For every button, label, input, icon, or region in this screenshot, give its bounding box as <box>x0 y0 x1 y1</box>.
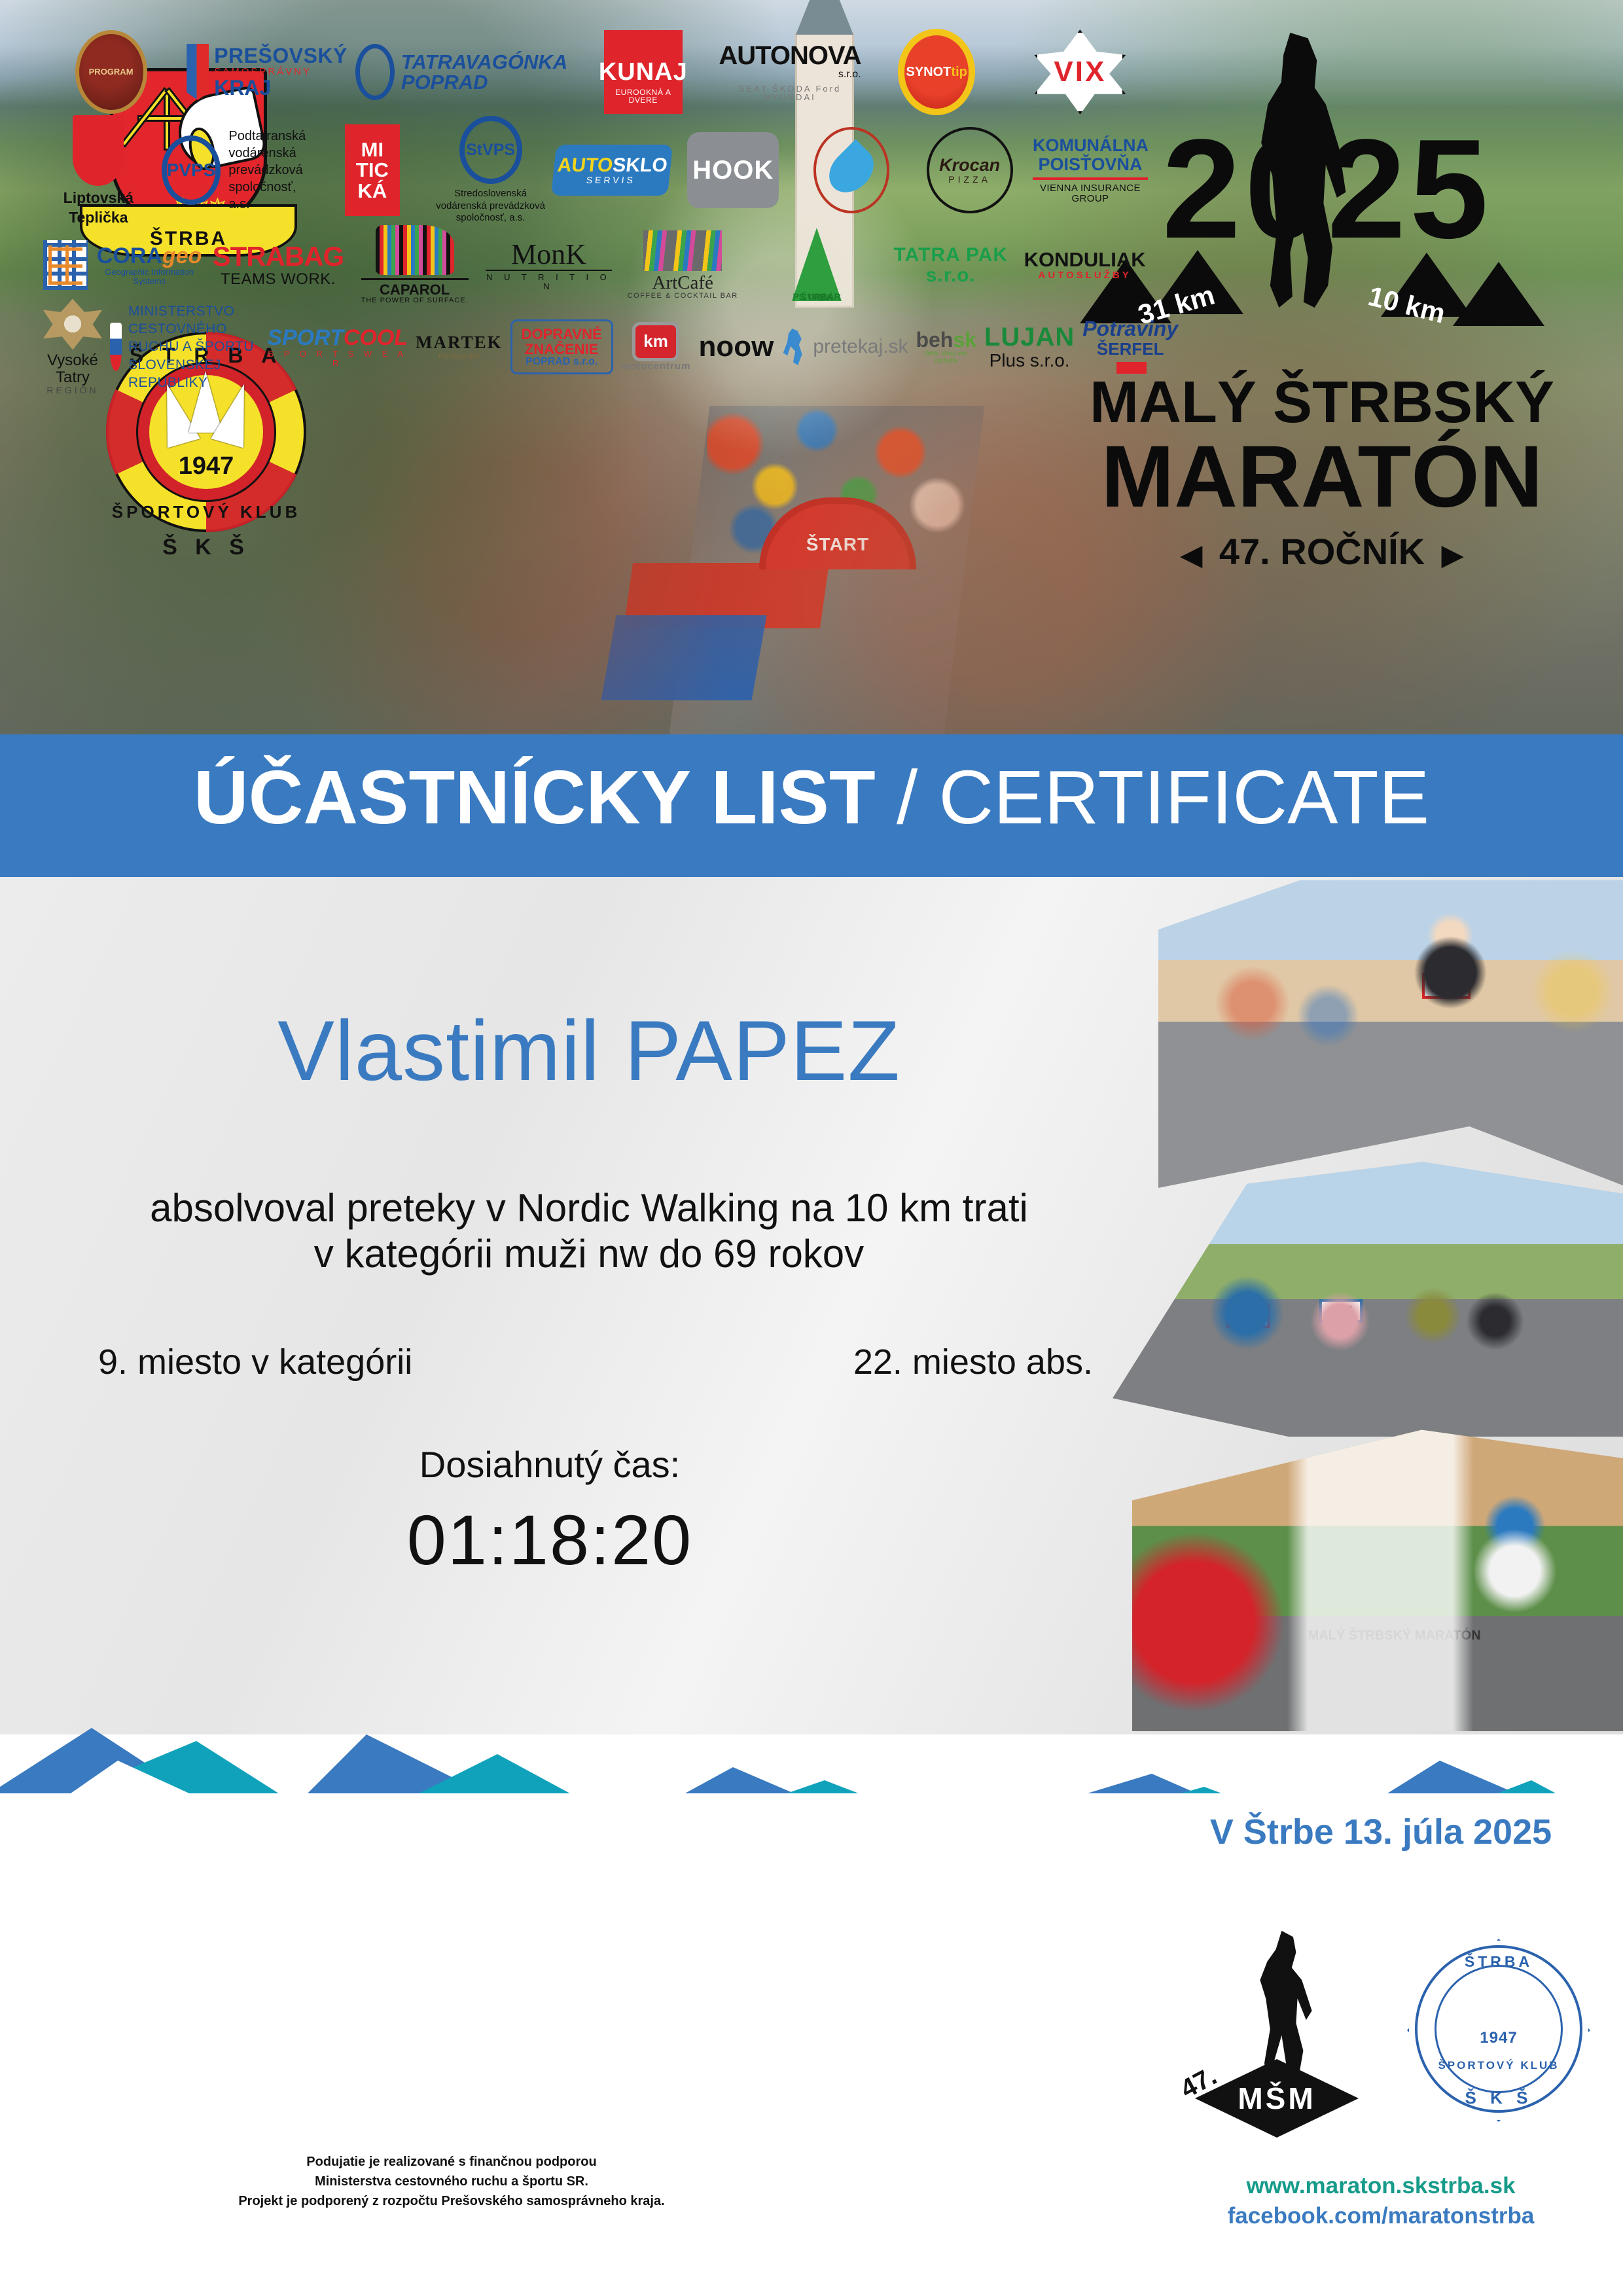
bib-number: 122 <box>1226 1304 1270 1328</box>
absolute-placement: 22. miesto abs. <box>853 1342 1093 1382</box>
start-arch: ŠTART <box>759 497 916 569</box>
edelweiss-icon <box>43 298 102 350</box>
sponsor-label: pretekaj.sk <box>813 336 908 357</box>
sponsor-hook[interactable]: HOOK <box>674 124 793 216</box>
sponsor-label: SYNOT <box>906 65 952 79</box>
sponsor-label: TATRA PAK s.r.o. <box>894 244 1008 287</box>
sponsor-monk-nutrition[interactable]: MonK N U T R I T I O N <box>482 223 616 308</box>
race-road <box>665 406 985 759</box>
msm-abbr: MŠM <box>1238 2081 1315 2116</box>
sponsor-sublabel: COOL <box>344 325 408 350</box>
sponsor-presovsky-kraj[interactable]: PREŠOVSKÝ SAMOSPRÁVNY KRAJ <box>183 26 351 118</box>
sponsor-sublabel2: KRAJ <box>214 77 348 99</box>
sponsor-label: MonK <box>486 240 612 270</box>
funding-fineprint: Podujatie je realizované s finančnou pod… <box>79 2152 825 2211</box>
sponsor-brands: SEAT ŠKODA Ford HYUNDAI <box>719 84 861 102</box>
sponsor-vysoke-tatry-region[interactable]: Vysoké Tatry REGIÓN <box>39 308 106 386</box>
divider-line <box>1033 177 1148 180</box>
elephant-icon <box>376 225 454 275</box>
sponsor-sublabel: SKLO <box>612 154 669 176</box>
sponsor-ps-urbar-strba[interactable]: PS URBÁR ŠTRBA <box>750 223 884 308</box>
sponsor-row-2: Liptovská Teplička PVPS Podtatranská vod… <box>39 124 1152 216</box>
placement-row: 9. miesto v kategórii 22. miesto abs. <box>98 1342 1093 1382</box>
sponsor-label: DOPRAVNÉ <box>522 327 602 342</box>
website-url[interactable]: www.maraton.skstrba.sk <box>1158 2173 1603 2199</box>
fineprint-line-2: Ministerstva cestovného ruchu a športu S… <box>79 2172 825 2191</box>
sponsor-label: AUTO <box>556 154 614 176</box>
stamp-year: 1947 <box>1400 2029 1597 2047</box>
sponsor-vix[interactable]: VIX <box>1008 26 1152 118</box>
sks-stamp-logo: ŠTRBA 1947 ŠPORTOVÝ KLUB Š K Š <box>1400 1931 1597 2140</box>
sponsor-label: MARTEK <box>416 333 503 351</box>
sponsor-label: Liptovská <box>63 190 134 206</box>
sponsor-label: MINISTERSTVO <box>128 302 259 320</box>
sponsor-autonova[interactable]: AUTONOVA s.r.o. SEAT ŠKODA Ford HYUNDAI <box>715 26 865 118</box>
sponsor-kunaj[interactable]: KUNAJ EUROOKNÁ A DVERE <box>571 26 715 118</box>
slovak-shield-icon <box>110 323 122 371</box>
photo-collage: 181 122 135 MALÝ ŠTRBSKÝ MARATÓN <box>1113 880 1623 1731</box>
page-title-separator: / <box>876 755 939 840</box>
sponsor-label: KONDULIAK <box>1024 249 1146 271</box>
sponsor-tatravagonka-poprad[interactable]: TATRAVAGÓNKA POPRAD <box>351 26 571 118</box>
stamp-bottom-text: Š K Š <box>1400 2088 1597 2108</box>
sponsor-label: noow <box>699 331 774 363</box>
sponsor-sublabel: tip <box>951 65 967 79</box>
race-title-line2: MARATÓN <box>1060 433 1584 521</box>
red-tent <box>624 563 829 628</box>
sponsor-krocan-pizza[interactable]: Krocan PIZZA <box>910 124 1029 216</box>
sponsor-sublabel: Stredoslovenská vodárenská prevádzková s… <box>435 188 546 224</box>
sponsor-sublabel: Podtatranská vodárenská prevádzková spol… <box>228 128 309 213</box>
sponsor-dopravne-znacenie-poprad[interactable]: DOPRAVNÉ ZNAČENIE POPRAD s.r.o. <box>507 308 617 386</box>
sponsor-sublabel: TEAMS WORK. <box>213 271 344 287</box>
sponsor-label: KOMUNÁLNA POISŤOVŇA <box>1033 136 1148 173</box>
participant-name: Vlastimil PAPEZ <box>79 1008 1099 1093</box>
sponsor-stvps[interactable]: StVPS Stredoslovenská vodárenská prevádz… <box>431 124 550 216</box>
certificate-page: ŠTART ✵ ✵ ✵ ŠTRBA Š T R B A 1947 ŠPORTOV… <box>0 0 1623 2296</box>
sponsor-sublabel2: Web, ktorý vás rozhýbe <box>916 351 976 365</box>
sponsor-label: ArtCafé <box>628 273 738 293</box>
msm-badge-logo: 47. MŠM <box>1178 1931 1374 2140</box>
sponsor-label: TATRAVAGÓNKA <box>401 52 567 72</box>
sponsor-sublabel: Restaurant <box>416 351 503 361</box>
sponsor-label: Krocan <box>939 156 1000 174</box>
dots-icon <box>1116 362 1147 374</box>
club-abbr-text: Š K Š <box>98 535 314 560</box>
page-title: ÚČASTNÍCKY LIST / CERTIFICATE <box>0 759 1623 835</box>
sponsor-pretekaj-sk[interactable]: pretekaj.sk <box>777 308 912 386</box>
time-label: Dosiahnutý čas: <box>79 1443 1021 1486</box>
race-edition: 47. ROČNÍK <box>1060 530 1584 573</box>
sponsor-row-3: CORAgeo Geographic Information Systems S… <box>39 223 1152 308</box>
sponsor-miticka[interactable]: MI TIC KÁ <box>313 124 432 216</box>
crowd-of-runners <box>707 393 969 563</box>
sponsor-sublabel2: Geographic Information Systems <box>94 268 205 285</box>
sponsor-row-1: PROGRAM PREŠOVSKÝ SAMOSPRÁVNY KRAJ TATRA… <box>39 26 1152 118</box>
sponsor-caparol[interactable]: CAPAROL THE POWER OF SURFACE. <box>348 223 482 308</box>
footer-right-column: V Štrbe 13. júla 2025 47. MŠM ŠTRBA 1947… <box>1158 1806 1603 2291</box>
photo-runners-hill: 122 135 <box>1113 1162 1623 1437</box>
fineprint-line-1: Podujatie je realizované s finančnou pod… <box>79 2152 825 2172</box>
flag-icon <box>187 44 209 100</box>
sponsor-tatrapak[interactable]: TATRA PAK s.r.o. <box>883 223 1018 308</box>
msm-diamond: MŠM <box>1195 2059 1359 2138</box>
sponsor-label: StVPS <box>459 116 522 184</box>
sponsor-row-4: Vysoké Tatry REGIÓN MINISTERSTVO CESTOVN… <box>39 308 1152 386</box>
sponsor-synot-tip[interactable]: SYNOTtip <box>865 26 1008 118</box>
sponsor-km-motocentrum[interactable]: km motocentrum <box>617 308 695 386</box>
sponsor-label: CAPAROL <box>361 278 469 297</box>
sponsor-program-trencin[interactable]: PROGRAM <box>39 26 183 118</box>
coffee-bars-icon <box>643 230 722 271</box>
blue-tent <box>601 615 767 700</box>
sponsor-sublabel: ŠERFEL <box>1097 339 1164 359</box>
finish-time: 01:18:20 <box>79 1499 1021 1581</box>
sponsor-potraviny-serfel[interactable]: Potraviny ŠERFEL <box>1079 308 1182 386</box>
sponsor-sublabel: EUROOKNÁ A DVERE <box>604 88 683 105</box>
sponsor-sublabel: N U T R I T I O N <box>486 270 612 291</box>
sponsor-sublabel: AUTOSLUŽBY <box>1024 270 1146 281</box>
grid-icon <box>43 240 88 290</box>
sponsor-martek-restaurant[interactable]: MARTEK Restaurant <box>412 308 507 386</box>
category-placement: 9. miesto v kategórii <box>98 1342 412 1382</box>
sponsor-konduliak[interactable]: KONDULIAK AUTOSLUŽBY <box>1018 223 1152 308</box>
sponsor-pd-strba[interactable] <box>793 124 911 216</box>
sponsor-sublabel: s.r.o. <box>719 69 861 81</box>
sponsor-sublabel: PIZZA <box>948 175 991 185</box>
sponsor-label: VIX <box>1054 57 1106 87</box>
sponsor-label: Potraviny <box>1082 318 1178 340</box>
sponsor-sublabel: THE POWER OF SURFACE. <box>361 297 469 305</box>
sponsor-artcafe[interactable]: ArtCafé COFFEE & COCKTAIL BAR <box>616 223 750 308</box>
page-title-regular: CERTIFICATE <box>938 755 1429 840</box>
facebook-url[interactable]: facebook.com/maratonstrba <box>1158 2203 1603 2229</box>
tree-icon <box>792 228 842 301</box>
bib-number: 135 <box>1319 1299 1363 1323</box>
sponsor-sublabel2: POPRAD s.r.o. <box>522 357 602 368</box>
sponsor-sublabel: Plus s.r.o. <box>984 351 1075 370</box>
sponsor-sublabel2: S P O R T S W E A R <box>267 350 408 367</box>
sponsor-label: HOOK <box>692 156 774 184</box>
sponsor-sublabel: VIENNA INSURANCE GROUP <box>1033 183 1148 204</box>
sponsor-liptovska-teplicka[interactable]: Liptovská Teplička <box>39 124 158 216</box>
runner-silhouette-icon <box>1250 1931 1322 2085</box>
finish-banner-text: MALÝ ŠTRBSKÝ MARATÓN <box>1308 1628 1481 1643</box>
club-founding-year: 1947 <box>98 452 314 480</box>
sponsor-corageo[interactable]: CORAgeo Geographic Information Systems <box>39 223 209 308</box>
sponsor-label: CORA <box>97 243 162 268</box>
sponsor-autosklo-servis[interactable]: AUTOSKLO SERVIS <box>550 124 674 216</box>
sponsor-label: PROGRAM <box>89 67 134 77</box>
sponsor-sublabel: ZNAČENIE <box>522 342 602 357</box>
certificate-text-line1: absolvoval preteky v Nordic Walking na 1… <box>79 1181 1099 1234</box>
sponsor-sublabel: POPRAD <box>401 72 567 92</box>
runners-icon <box>781 329 808 365</box>
sponsor-ministerstvo-sr[interactable]: MINISTERSTVO CESTOVNÉHO RUCHU A ŠPORTU S… <box>106 308 263 386</box>
sponsor-sublabel: CESTOVNÉHO RUCHU A ŠPORTU SLOVENSKEJ REP… <box>128 320 259 391</box>
sponsor-sublabel: sk <box>953 328 976 351</box>
bib-number: 181 <box>1422 973 1471 999</box>
certificate-text-line2: v kategórii muži nw do 69 rokov <box>79 1227 1099 1280</box>
sponsor-label: LUJAN <box>984 323 1075 351</box>
oval-icon <box>355 44 395 100</box>
sponsor-grid: PROGRAM PREŠOVSKÝ SAMOSPRÁVNY KRAJ TATRA… <box>39 13 1152 380</box>
sponsor-sublabel: geo <box>162 243 202 268</box>
page-title-bold: ÚČASTNÍCKY LIST <box>194 755 876 840</box>
sponsor-label: PREŠOVSKÝ <box>214 45 348 67</box>
sponsor-sublabel: COFFEE & COCKTAIL BAR <box>628 293 738 300</box>
sponsor-label: STRABAG <box>213 242 344 271</box>
stamp-top-text: ŠTRBA <box>1400 1953 1597 1971</box>
sponsor-strabag[interactable]: STRABAG TEAMS WORK. <box>209 223 348 308</box>
sponsor-pvps[interactable]: PVPS Podtatranská vodárenská prevádzková… <box>158 124 313 216</box>
start-arch-label: ŠTART <box>806 534 869 555</box>
sponsor-sublabel2: SERVIS <box>586 175 636 185</box>
sponsor-label: km <box>632 322 679 361</box>
sponsor-label: MI TIC KÁ <box>345 139 400 202</box>
water-drop-icon <box>821 139 883 202</box>
sponsor-label: Vysoké Tatry <box>43 352 102 385</box>
stamp-mid-text: ŠPORTOVÝ KLUB <box>1400 2059 1597 2072</box>
event-date: V Štrbe 13. júla 2025 <box>1158 1812 1603 1852</box>
sponsor-komunalna-poistovna[interactable]: KOMUNÁLNA POISŤOVŇA VIENNA INSURANCE GRO… <box>1029 124 1152 216</box>
sponsor-sportcool[interactable]: SPORTCOOL S P O R T S W E A R <box>263 308 412 386</box>
sponsor-label: PVPS <box>162 135 221 205</box>
photo-finisher-woman: 181 <box>1158 880 1623 1188</box>
sponsor-label: beh <box>916 328 953 351</box>
fineprint-line-3: Projekt je podporený z rozpočtu Prešovsk… <box>79 2191 825 2211</box>
sponsor-noow[interactable]: noow <box>695 308 778 386</box>
club-bottom-text: ŠPORTOVÝ KLUB <box>98 502 314 522</box>
sponsor-label: SPORT <box>267 325 344 350</box>
sponsor-beh-sk[interactable]: behsk Web, ktorý vás rozhýbe <box>912 308 980 386</box>
sponsor-label: KUNAJ <box>599 60 688 86</box>
shield-icon <box>73 115 124 186</box>
sponsor-label: AUTONOVA <box>719 42 861 69</box>
sponsor-lujan-plus[interactable]: LUJAN Plus s.r.o. <box>980 308 1079 386</box>
sponsor-sublabel: REGIÓN <box>43 386 102 395</box>
sponsor-sublabel: motocentrum <box>621 361 691 372</box>
